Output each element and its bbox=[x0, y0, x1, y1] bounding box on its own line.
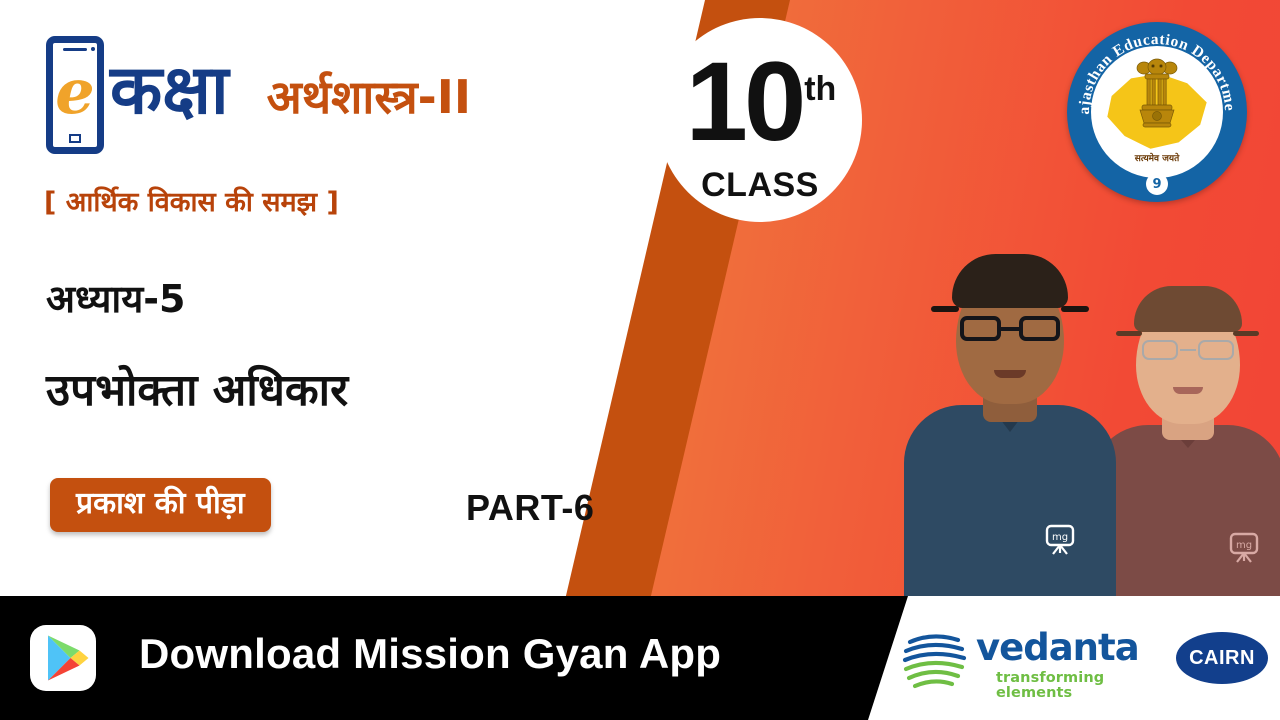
rajasthan-education-department-seal: सत्यमेव जयते Rajasthan Education Departm… bbox=[1067, 22, 1247, 202]
subject-title: अर्थशास्त्र-II bbox=[267, 74, 471, 120]
vedanta-wordmark: vedanta bbox=[976, 629, 1139, 666]
instructor-left-mouth bbox=[994, 370, 1026, 378]
brand-logo: e कक्षा अर्थशास्त्र-II bbox=[46, 36, 471, 154]
class-badge: 10th CLASS bbox=[658, 18, 862, 222]
phone-home-button bbox=[69, 134, 81, 143]
instructor-right-torso bbox=[1090, 425, 1280, 600]
seal-ring-label: Rajasthan Education Department bbox=[1067, 22, 1238, 115]
cairn-logo: CAIRN bbox=[1176, 632, 1268, 684]
footer-bar: Download Mission Gyan App vedanta transf… bbox=[0, 596, 1280, 720]
chapter-title: उपभोक्ता अधिकार bbox=[46, 358, 348, 418]
instructor-right-glasses bbox=[1142, 340, 1234, 362]
topic-badge: प्रकाश की पीड़ा bbox=[50, 478, 271, 532]
instructor-right-brow-right bbox=[1233, 331, 1259, 336]
logo-wordmark: कक्षा bbox=[110, 57, 229, 125]
phone-speaker bbox=[63, 48, 87, 51]
thumbnail-canvas: e कक्षा अर्थशास्त्र-II [ आर्थिक विकास की… bbox=[0, 0, 1280, 720]
vedanta-tagline: transforming elements bbox=[996, 671, 1170, 700]
seal-bottom-emblem: 9 bbox=[1146, 173, 1168, 195]
class-word: CLASS bbox=[658, 166, 862, 205]
instructor-right-brow-left bbox=[1116, 331, 1142, 336]
svg-text:mg: mg bbox=[1052, 532, 1068, 543]
instructor-left: mg bbox=[905, 170, 1115, 600]
vedanta-logo: vedanta transforming elements bbox=[900, 626, 1170, 692]
topic-badge-label: प्रकाश की पीड़ा bbox=[76, 487, 245, 520]
cairn-wordmark: CAIRN bbox=[1189, 647, 1255, 670]
instructor-right-mouth bbox=[1173, 387, 1203, 394]
class-number: 10 bbox=[686, 39, 803, 164]
instructor-left-hair bbox=[952, 254, 1068, 308]
class-number-row: 10th bbox=[658, 46, 862, 158]
svg-text:mg: mg bbox=[1236, 540, 1252, 551]
vedanta-globe-icon bbox=[900, 628, 970, 694]
instructor-right-hair bbox=[1134, 286, 1242, 332]
smartphone-icon: e bbox=[46, 36, 104, 154]
chapter-number: अध्याय-5 bbox=[46, 272, 185, 324]
mg-shirt-logo-right: mg bbox=[1227, 532, 1261, 564]
instructor-left-glasses bbox=[960, 316, 1060, 342]
class-ordinal-suffix: th bbox=[804, 70, 836, 108]
instructor-photos: mg mg bbox=[905, 170, 1280, 600]
instructor-right: mg bbox=[1090, 210, 1280, 600]
mg-shirt-logo-left: mg bbox=[1043, 524, 1077, 556]
logo-e-letter: e bbox=[55, 61, 94, 123]
part-label: PART-6 bbox=[466, 487, 594, 529]
download-cta-text[interactable]: Download Mission Gyan App bbox=[139, 630, 721, 678]
instructor-left-brow-left bbox=[931, 306, 959, 312]
instructor-left-torso bbox=[904, 405, 1116, 600]
instructor-left-brow-right bbox=[1061, 306, 1089, 312]
google-play-icon[interactable] bbox=[30, 625, 96, 691]
brand-tagline: [ आर्थिक विकास की समझ ] bbox=[44, 182, 339, 219]
phone-camera-dot bbox=[91, 47, 95, 51]
